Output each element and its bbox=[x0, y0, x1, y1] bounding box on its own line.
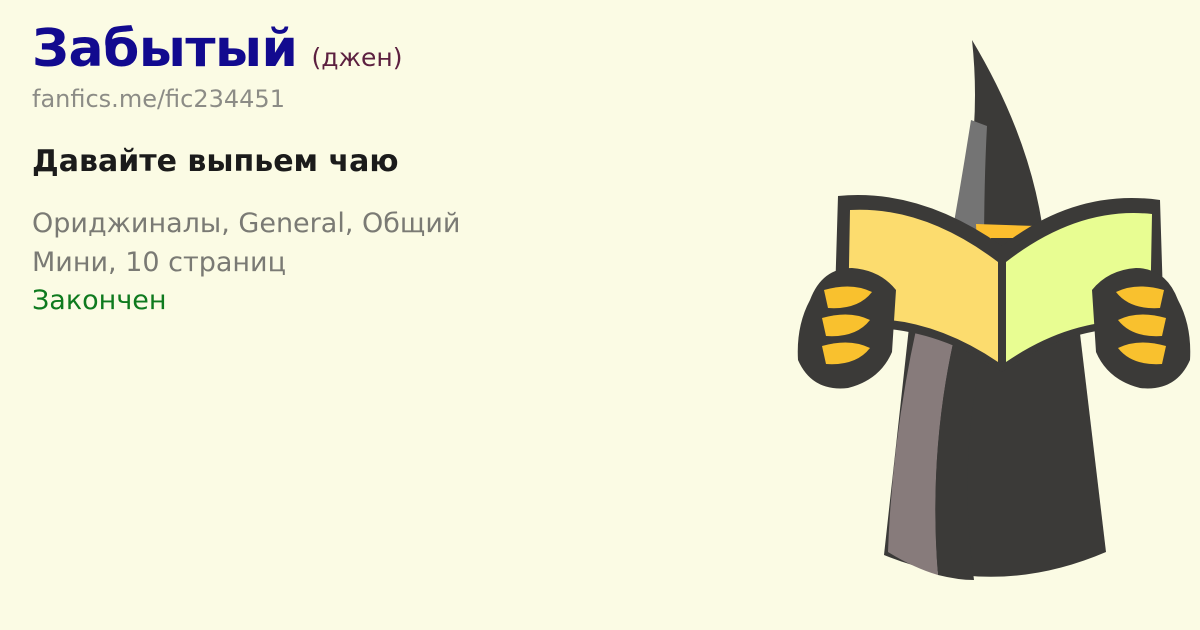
fic-category-label: (джен) bbox=[311, 45, 402, 70]
status-badge: Закончен bbox=[32, 282, 752, 320]
book-gutter bbox=[999, 258, 1003, 368]
text-column: Забытый (джен) fanfics.me/fic234451 Дава… bbox=[32, 22, 752, 320]
fanfic-preview-card: Забытый (джен) fanfics.me/fic234451 Дава… bbox=[0, 0, 1200, 630]
fic-url[interactable]: fanfics.me/fic234451 bbox=[32, 86, 752, 112]
meta-line-size-pages: Мини, 10 страниц bbox=[32, 244, 752, 282]
chapter-title: Давайте выпьем чаю bbox=[32, 145, 752, 180]
page-title: Забытый bbox=[32, 22, 297, 77]
witch-reading-book-illustration bbox=[788, 0, 1200, 630]
meta-line-fandom-rating-genre: Ориджиналы, General, Общий bbox=[32, 205, 752, 243]
right-hand-group bbox=[1092, 268, 1190, 388]
title-row: Забытый (джен) bbox=[32, 22, 752, 77]
left-hand-group bbox=[798, 268, 896, 388]
meta-block: Ориджиналы, General, Общий Мини, 10 стра… bbox=[32, 205, 752, 320]
